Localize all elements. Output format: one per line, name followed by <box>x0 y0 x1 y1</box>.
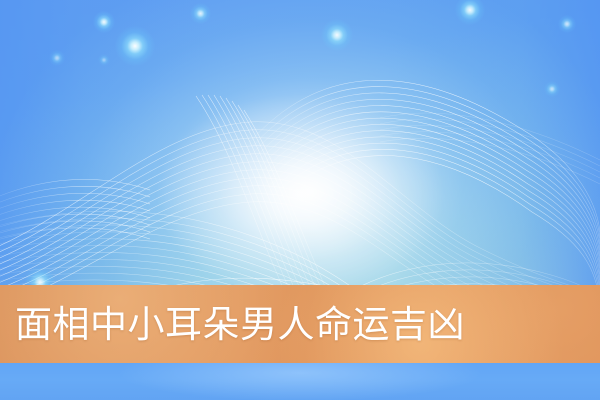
wave-group-top-right <box>250 80 600 304</box>
image-canvas: 面相中小耳朵男人命运吉凶 <box>0 0 600 400</box>
banner-title-text: 面相中小耳朵男人命运吉凶 <box>15 285 465 363</box>
bottom-strip-glow <box>0 363 600 400</box>
title-banner: 面相中小耳朵男人命运吉凶 <box>0 285 600 363</box>
bottom-blue-strip <box>0 363 600 400</box>
